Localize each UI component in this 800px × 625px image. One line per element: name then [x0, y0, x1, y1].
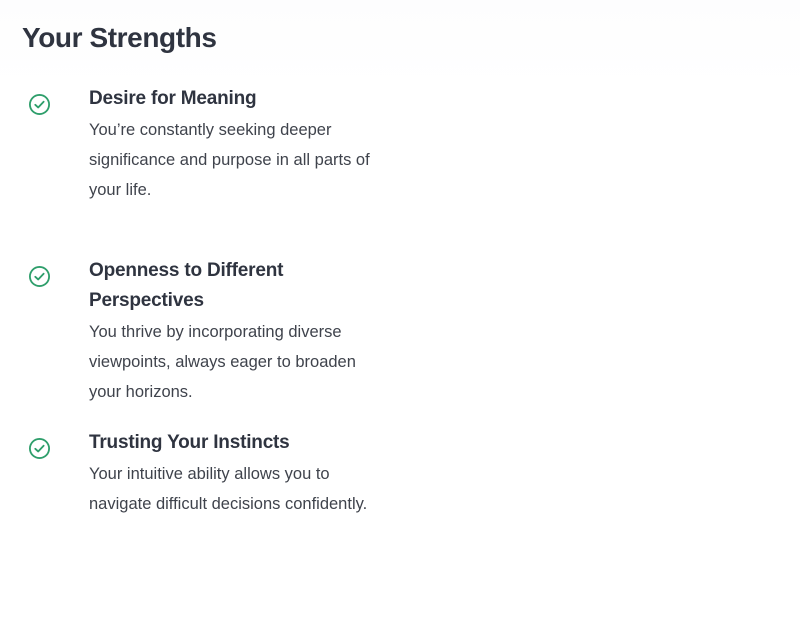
strength-item: Openness to Different Perspectives You t…	[22, 256, 393, 407]
strengths-grid: Desire for Meaning You’re constantly see…	[0, 84, 800, 600]
check-circle-icon	[28, 265, 51, 288]
strength-title: Openness to Different Perspectives	[89, 256, 375, 316]
strength-cell: Optimistic Spirit Your positive outlook …	[393, 256, 786, 428]
check-circle-icon	[28, 93, 51, 116]
strength-description: You thrive by incorporating diverse view…	[89, 317, 375, 407]
strength-description: You’re constantly seeking deeper signifi…	[89, 115, 375, 205]
page-title: Your Strengths	[22, 20, 217, 56]
strength-title: Desire for Meaning	[89, 84, 375, 114]
check-circle-icon	[28, 437, 51, 460]
strength-description: Your intuitive ability allows you to nav…	[89, 459, 375, 519]
strength-cell: Authentic Self-Reflection Your honesty a…	[393, 84, 786, 256]
strength-item: Trusting Your Instincts Your intuitive a…	[22, 428, 393, 519]
strength-item: Desire for Meaning You’re constantly see…	[22, 84, 393, 205]
strengths-panel: Your Strengths Desire for Meaning You’re…	[0, 0, 800, 625]
strength-cell: Desire for Meaning You’re constantly see…	[0, 84, 393, 256]
strength-cell: Trusting Your Instincts Your intuitive a…	[0, 428, 393, 600]
strength-cell: Valuing Personal Authenticity You active…	[393, 428, 786, 600]
strength-title: Trusting Your Instincts	[89, 428, 375, 458]
strength-cell: Openness to Different Perspectives You t…	[0, 256, 393, 428]
